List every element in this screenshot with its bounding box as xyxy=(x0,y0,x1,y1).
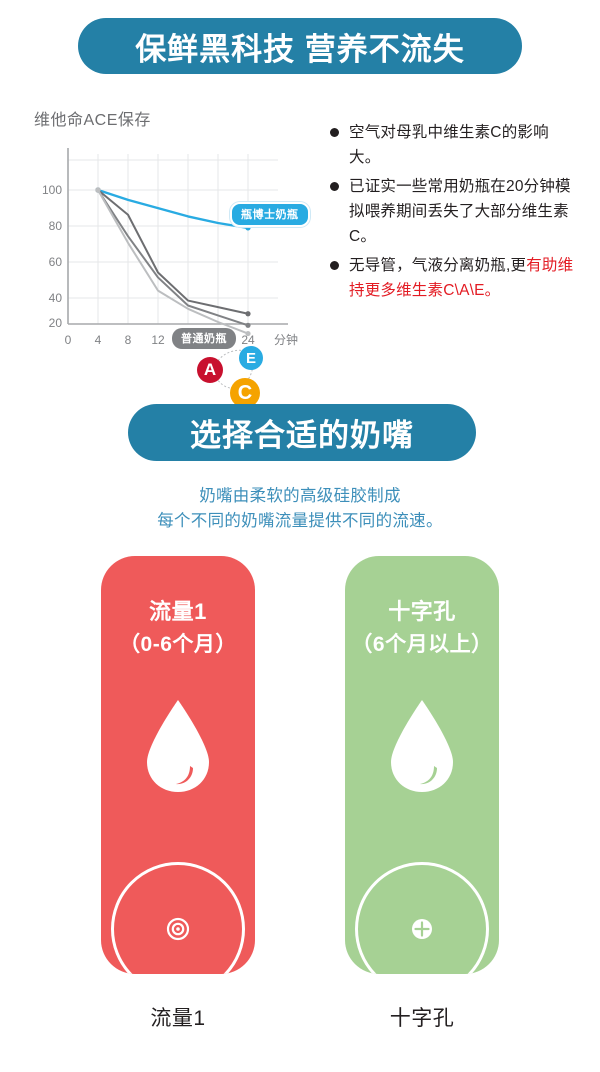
headline-banner-middle-text: 选择合适的奶嘴 xyxy=(190,410,414,455)
chart-plot-area: 100 80 60 40 20 0 4 8 12 16 20 24 分钟 xyxy=(26,134,316,349)
y-tick-40: 40 xyxy=(49,291,63,305)
cross-hole-icon xyxy=(407,914,437,944)
droplet-icon xyxy=(387,696,457,796)
list-item: 已证实一些常用奶瓶在20分钟模拟喂养期间丢失了大部分维生素C。 xyxy=(330,174,580,249)
droplet-icon-wrap xyxy=(345,696,499,796)
chart-line-1 xyxy=(98,190,248,314)
nipple-card-subtitle: （0-6个月） xyxy=(101,628,255,658)
list-item: 空气对母乳中维生素C的影响大。 xyxy=(330,120,580,170)
nipple-card-subtitle: （6个月以上） xyxy=(345,628,499,658)
vitamin-a-badge: A xyxy=(197,357,223,383)
benefits-bullet-list: 空气对母乳中维生素C的影响大。 已证实一些常用奶瓶在20分钟模拟喂养期间丢失了大… xyxy=(330,120,580,307)
chart-point xyxy=(245,331,250,336)
chart-title: 维他命ACE保存 xyxy=(34,106,151,130)
droplet-icon xyxy=(143,696,213,796)
headline-banner-middle: 选择合适的奶嘴 xyxy=(128,404,476,461)
nipple-caption-flow1: 流量1 xyxy=(101,1002,255,1032)
x-axis-label: 分钟 xyxy=(274,332,298,347)
single-hole-icon xyxy=(163,914,193,944)
nipple-subtitle: 奶嘴由柔软的高级硅胶制成 每个不同的奶嘴流量提供不同的流速。 xyxy=(0,484,600,534)
y-tick-60: 60 xyxy=(49,255,63,269)
x-tick-0: 0 xyxy=(65,333,72,347)
headline-banner-top-text: 保鲜黑科技 营养不流失 xyxy=(135,24,465,69)
nipple-card-cross[interactable]: 十字孔 （6个月以上） xyxy=(345,556,499,974)
x-tick-8: 8 xyxy=(125,333,132,347)
y-tick-100: 100 xyxy=(42,183,62,197)
droplet-icon-wrap xyxy=(101,696,255,796)
bullet-dot-icon xyxy=(330,261,339,270)
bullet-text: 无导管，气液分离奶瓶,更有助维持更多维生素C\A\E。 xyxy=(349,253,580,303)
headline-banner-top: 保鲜黑科技 营养不流失 xyxy=(78,18,522,74)
bullet-text: 已证实一些常用奶瓶在20分钟模拟喂养期间丢失了大部分维生素C。 xyxy=(349,174,580,249)
bullet-text: 空气对母乳中维生素C的影响大。 xyxy=(349,120,580,170)
x-tick-4: 4 xyxy=(95,333,102,347)
y-tick-20: 20 xyxy=(49,316,63,330)
nipple-card-title: 十字孔 xyxy=(345,594,499,626)
vitamin-retention-chart: 维他命ACE保存 100 xyxy=(26,106,316,376)
nipple-hole-ring xyxy=(111,862,245,974)
nipple-subtitle-line2: 每个不同的奶嘴流量提供不同的流速。 xyxy=(0,509,600,534)
list-item: 无导管，气液分离奶瓶,更有助维持更多维生素C\A\E。 xyxy=(330,253,580,303)
bullet-text-plain: 无导管，气液分离奶瓶,更 xyxy=(349,257,526,274)
chart-point xyxy=(245,323,250,328)
chart-point xyxy=(245,311,250,316)
nipple-hole-ring xyxy=(355,862,489,974)
x-tick-12: 12 xyxy=(151,333,165,347)
bullet-dot-icon xyxy=(330,128,339,137)
chart-label-dr-bottle: 瓶博士奶瓶 xyxy=(230,202,310,227)
bullet-dot-icon xyxy=(330,182,339,191)
vitamin-e-badge: E xyxy=(239,346,263,370)
nipple-caption-cross: 十字孔 xyxy=(345,1002,499,1032)
chart-line-2 xyxy=(98,190,248,325)
chart-point xyxy=(95,187,100,192)
y-tick-80: 80 xyxy=(49,219,63,233)
nipple-card-title: 流量1 xyxy=(101,594,255,626)
nipple-subtitle-line1: 奶嘴由柔软的高级硅胶制成 xyxy=(0,484,600,509)
nipple-card-flow1[interactable]: 流量1 （0-6个月） xyxy=(101,556,255,974)
chart-svg: 100 80 60 40 20 0 4 8 12 16 20 24 分钟 xyxy=(26,134,316,349)
